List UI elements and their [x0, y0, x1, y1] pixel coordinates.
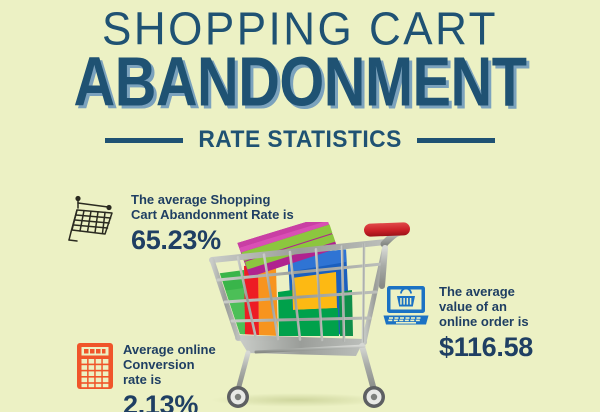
calculator-icon [76, 342, 114, 395]
shopping-cart-illustration [196, 222, 416, 412]
page-title-line-2: ABANDONMENT [21, 48, 579, 117]
stat-text-order-value: The average value of an online order is … [439, 284, 533, 363]
page-title-line-2-wrapper: ABANDONMENT ABANDONMENT [0, 52, 600, 114]
header: SHOPPING CART ABANDONMENT ABANDONMENT RA… [0, 0, 600, 154]
stat-caption-abandonment: The average Shopping Cart Abandonment Ra… [131, 192, 294, 222]
infographic-canvas: SHOPPING CART ABANDONMENT ABANDONMENT RA… [0, 0, 600, 412]
subtitle-row: RATE STATISTICS [0, 126, 600, 154]
stat-caption-order-value: The average value of an online order is [439, 284, 533, 329]
stat-block-conversion-rate: Average online Conversion rate is 2.13% [76, 342, 216, 412]
subtitle-rule-left [105, 138, 183, 143]
abandoned-cart-icon [68, 192, 122, 249]
stat-value-order-value: $116.58 [439, 331, 533, 363]
subtitle-rule-right [417, 138, 495, 143]
page-subtitle: RATE STATISTICS [198, 126, 401, 154]
